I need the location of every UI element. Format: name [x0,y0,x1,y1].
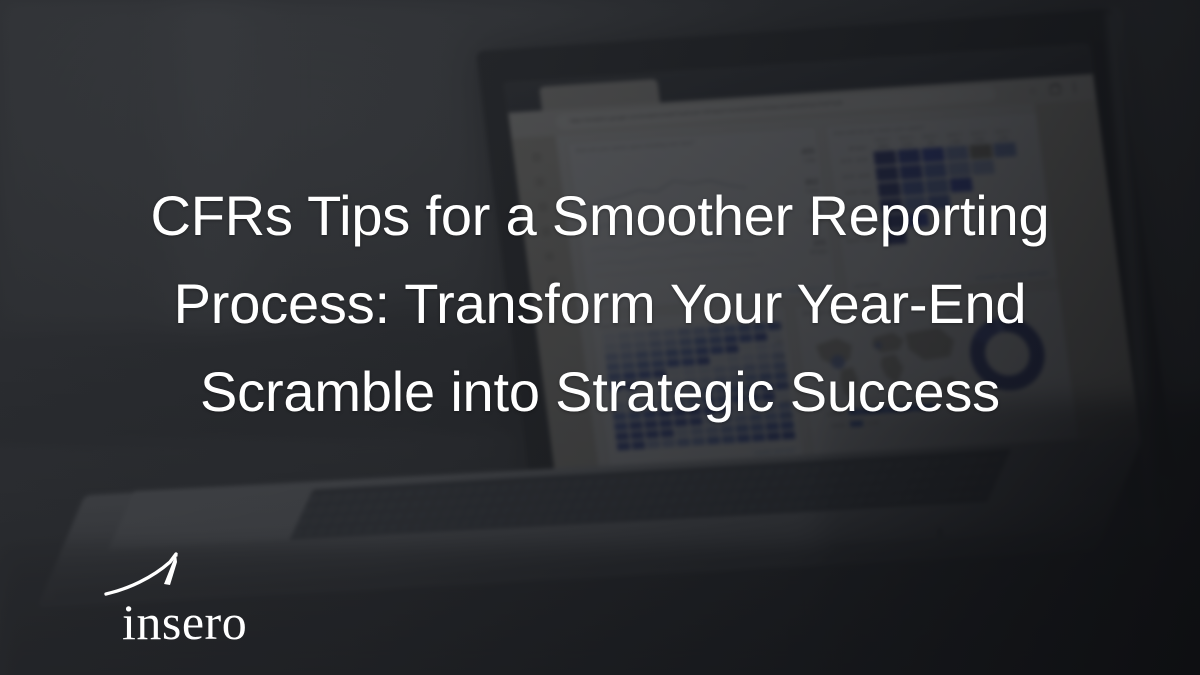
header-graphic: https://analytics.google.com/analytics/w… [0,0,1200,675]
brand-wordmark: insero [122,596,247,648]
title-line-3: Scramble into Strategic Success [88,348,1112,436]
title-line-1: CFRs Tips for a Smoother Reporting [88,172,1112,260]
brand-logo: insero [104,544,384,650]
title-line-2: Process: Transform Your Year-End [88,260,1112,348]
page-title: CFRs Tips for a Smoother Reporting Proce… [88,172,1112,436]
